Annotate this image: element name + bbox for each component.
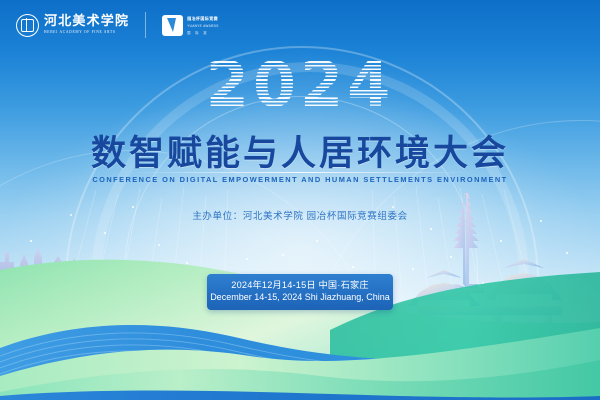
- date-line-cn: 2024年12月14-15日 中国·石家庄: [207, 280, 393, 292]
- academy-seal-icon: [16, 14, 39, 37]
- logo-divider: [145, 12, 146, 38]
- organizer-label: 主办单位：: [192, 211, 243, 222]
- date-line-en: December 14-15, 2024 Shi Jiazhuang, Chin…: [207, 292, 393, 303]
- page-subtitle: CONFERENCE ON DIGITAL EMPOWERMENT AND HU…: [0, 175, 600, 184]
- page-title: 数智赋能与人居环境大会: [0, 125, 600, 176]
- academy-name-en: HEBEI ACADEMY OF FINE ARTS: [44, 31, 129, 35]
- yuanye-name-cn: 园冶杯国际竞赛: [187, 16, 218, 22]
- header-logos: 河北美术学院 HEBEI ACADEMY OF FINE ARTS 园冶杯国际竞…: [16, 12, 219, 38]
- organizer-names: 河北美术学院 园冶杯国际竞赛组委会: [243, 211, 408, 222]
- logo-yuanye-cup[interactable]: 园冶杯国际竞赛 YUANYE AWARDS 国 际 赛: [162, 15, 218, 36]
- year-text: 2024: [206, 54, 395, 116]
- date-location-badge: 2024年12月14-15日 中国·石家庄 December 14-15, 20…: [207, 274, 393, 310]
- organizer-line: 主办单位：河北美术学院 园冶杯国际竞赛组委会: [0, 208, 600, 222]
- yuanye-name-sub: 国 际 赛: [187, 30, 218, 35]
- yuanye-mark-icon: [162, 15, 183, 36]
- conference-poster: 河北美术学院 HEBEI ACADEMY OF FINE ARTS 园冶杯国际竞…: [0, 0, 600, 400]
- logo-hebei-academy[interactable]: 河北美术学院 HEBEI ACADEMY OF FINE ARTS: [16, 14, 129, 37]
- yuanye-name-en: YUANYE AWARDS: [187, 24, 218, 28]
- academy-name-cn: 河北美术学院: [44, 15, 129, 28]
- year-block: 2024: [0, 54, 600, 116]
